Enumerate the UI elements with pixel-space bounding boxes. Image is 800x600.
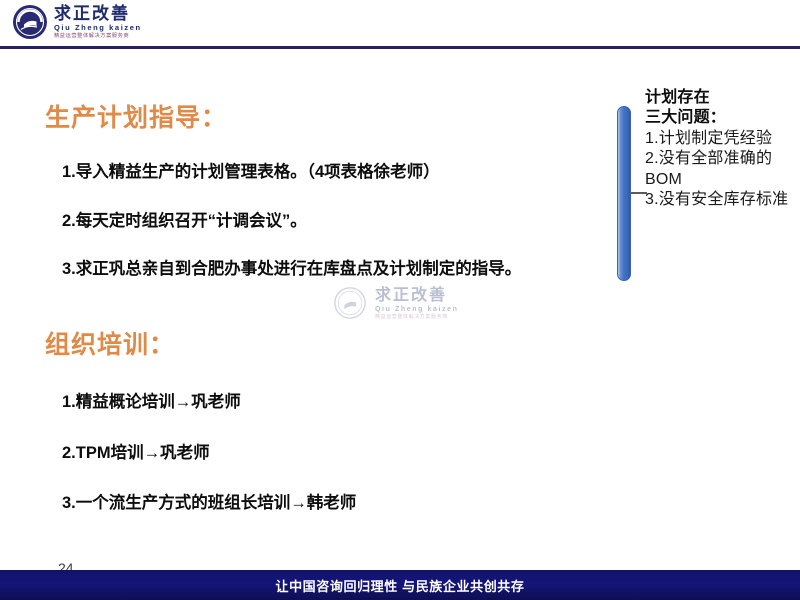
list-item: 2.TPM培训→巩老师 xyxy=(62,445,356,462)
qiuzheng-circular-logo-icon xyxy=(12,4,48,40)
brand-tagline: 精益运营整体解决方案服务商 xyxy=(54,34,142,39)
list-item: 2.每天定时组织召开“计调会议”。 xyxy=(62,213,521,230)
brand-name-pinyin: Qiu Zheng kaizen xyxy=(54,24,142,32)
section-heading-production-plan-guidance: 生产计划指导： xyxy=(45,98,227,134)
bullet-list-production-plan-guidance: 1.导入精益生产的计划管理表格。（4项表格徐老师） 2.每天定时组织召开“计调会… xyxy=(62,164,521,310)
bullet-list-organize-training: 1.精益概论培训→巩老师 2.TPM培训→巩老师 3.一个流生产方式的班组长培训… xyxy=(62,394,356,546)
watermark-tagline: 精益运营整体解决方案服务商 xyxy=(375,315,459,320)
callout-text-block: 计划存在 三大问题： 1.计划制定凭经验 2.没有全部准确的BOM 3.没有安全… xyxy=(645,88,800,211)
slide-header: 求正改善 Qiu Zheng kaizen 精益运营整体解决方案服务商 xyxy=(0,0,800,48)
slide: 求正改善 Qiu Zheng kaizen 精益运营整体解决方案服务商 求正改善… xyxy=(0,0,800,600)
footer-slogan: 让中国咨询回归理性 与民族企业共创共存 xyxy=(275,576,524,595)
list-item: 3.求正巩总亲自到合肥办事处进行在库盘点及计划制定的指导。 xyxy=(62,261,521,278)
callout-list-item: 3.没有安全库存标准 xyxy=(645,190,800,210)
brand-name-cn: 求正改善 xyxy=(54,5,142,22)
callout-list-item: 2.没有全部准确的BOM xyxy=(645,149,800,190)
header-divider xyxy=(0,46,800,49)
callout-accent-bar xyxy=(617,106,631,281)
callout-list-item: 1.计划制定凭经验 xyxy=(645,129,800,149)
brand-logo: 求正改善 Qiu Zheng kaizen 精益运营整体解决方案服务商 xyxy=(12,4,142,40)
list-item: 1.导入精益生产的计划管理表格。（4项表格徐老师） xyxy=(62,164,521,181)
list-item: 1.精益概论培训→巩老师 xyxy=(62,394,356,411)
section-heading-organize-training: 组织培训： xyxy=(45,325,175,361)
list-item: 3.一个流生产方式的班组长培训→韩老师 xyxy=(62,495,356,512)
callout-heading-line-2: 三大问题： xyxy=(645,108,800,128)
brand-wordmark: 求正改善 Qiu Zheng kaizen 精益运营整体解决方案服务商 xyxy=(54,5,142,39)
slide-footer: 让中国咨询回归理性 与民族企业共创共存 xyxy=(0,570,800,600)
callout-heading-line-1: 计划存在 xyxy=(645,88,800,108)
